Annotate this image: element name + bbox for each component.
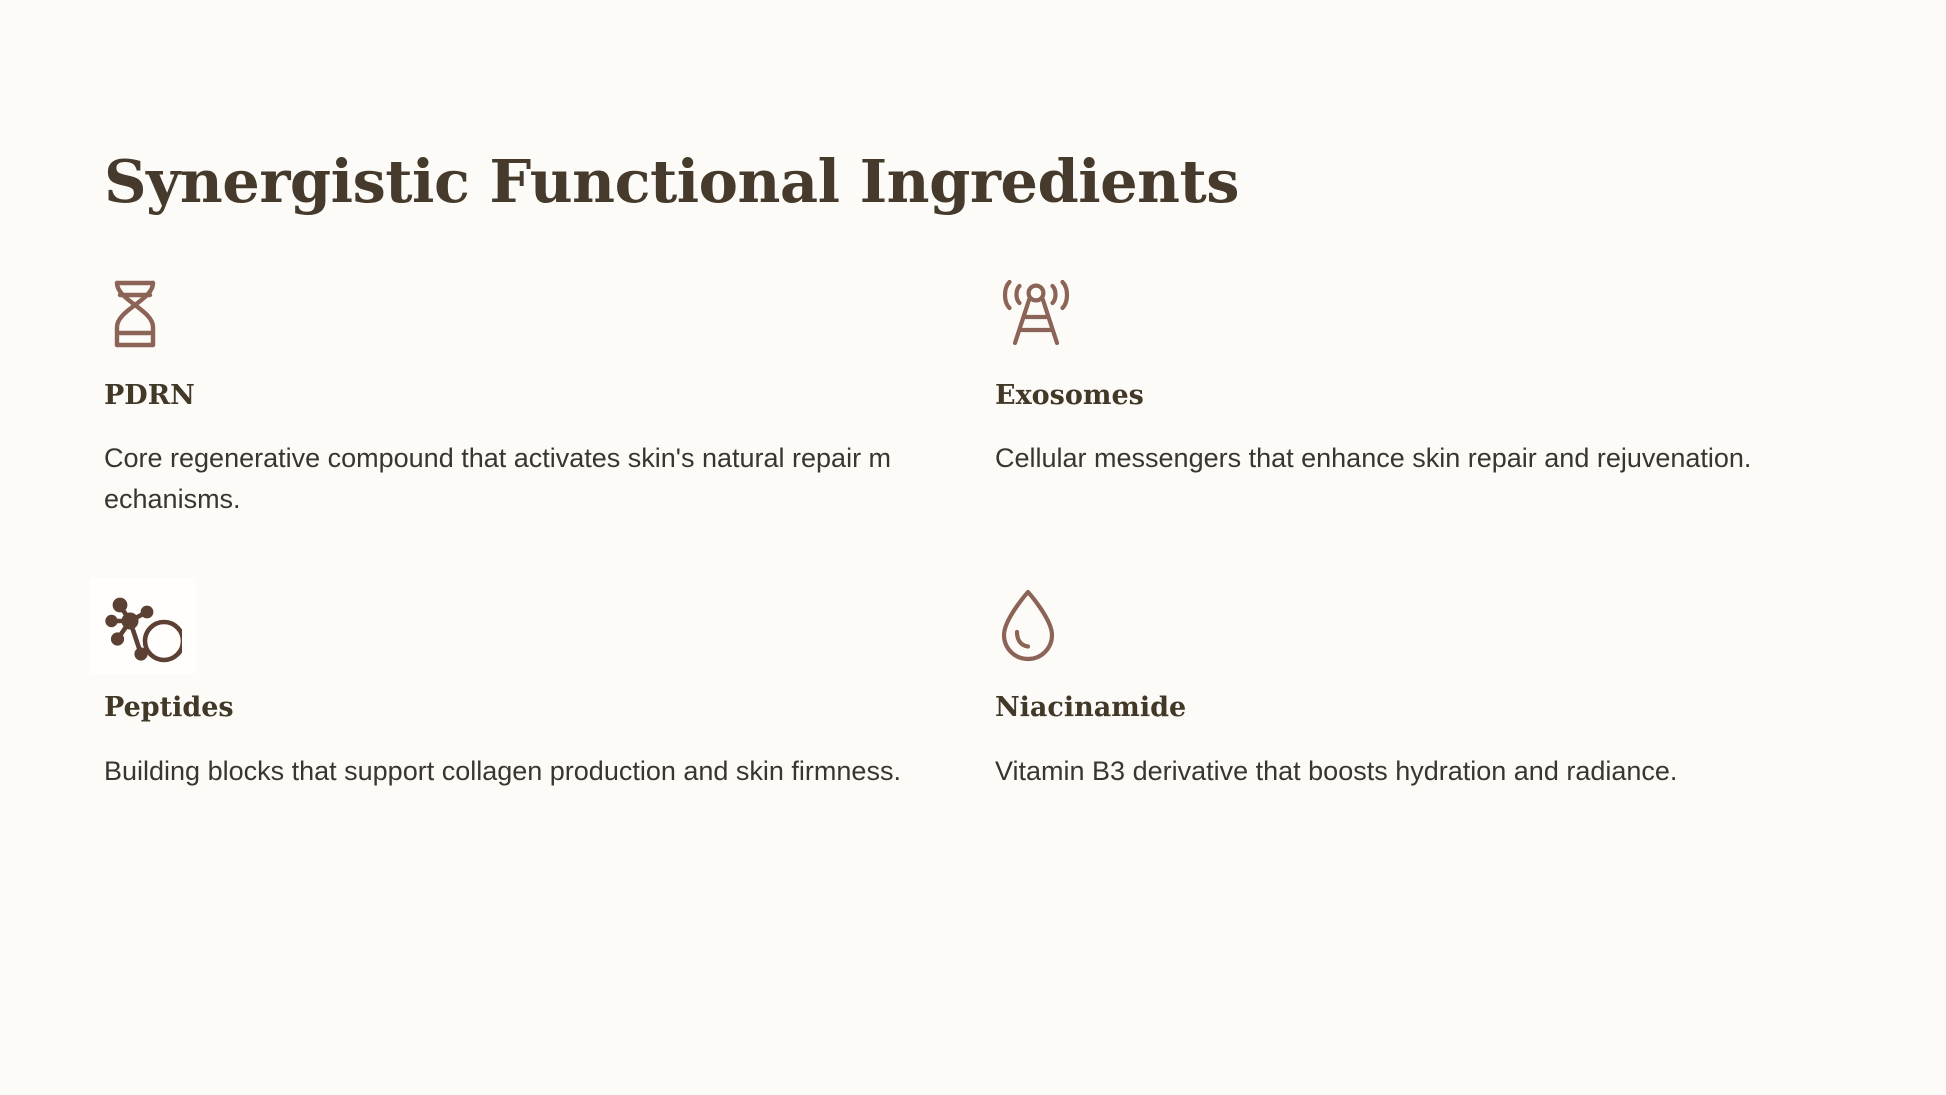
- ingredient-card-pdrn: PDRN Core regenerative compound that act…: [104, 266, 995, 520]
- ingredient-description: Vitamin B3 derivative that boosts hydrat…: [995, 751, 1785, 792]
- dna-helix-icon: [104, 266, 210, 362]
- ingredients-section: Synergistic Functional Ingredients PDRN …: [104, 150, 1864, 792]
- ingredient-card-exosomes: Exosomes Cellular messengers that enhanc…: [995, 266, 1864, 520]
- water-droplet-icon: [995, 578, 1101, 674]
- ingredient-card-niacinamide: Niacinamide Vitamin B3 derivative that b…: [995, 578, 1864, 791]
- ingredient-card-peptides: Peptides Building blocks that support co…: [104, 578, 995, 791]
- ingredient-description: Cellular messengers that enhance skin re…: [995, 438, 1785, 479]
- ingredients-grid: PDRN Core regenerative compound that act…: [104, 266, 1864, 792]
- ingredient-description: Building blocks that support collagen pr…: [104, 751, 904, 792]
- ingredient-name: Peptides: [104, 692, 995, 724]
- ingredient-name: Exosomes: [995, 380, 1864, 412]
- ingredient-description: Core regenerative compound that activate…: [104, 438, 904, 520]
- molecule-icon: [90, 578, 196, 674]
- ingredients-page: Synergistic Functional Ingredients PDRN …: [0, 0, 1946, 1095]
- ingredient-name: Niacinamide: [995, 692, 1864, 724]
- page-title: Synergistic Functional Ingredients: [104, 150, 1864, 214]
- ingredient-name: PDRN: [104, 380, 995, 412]
- broadcast-tower-icon: [995, 266, 1101, 362]
